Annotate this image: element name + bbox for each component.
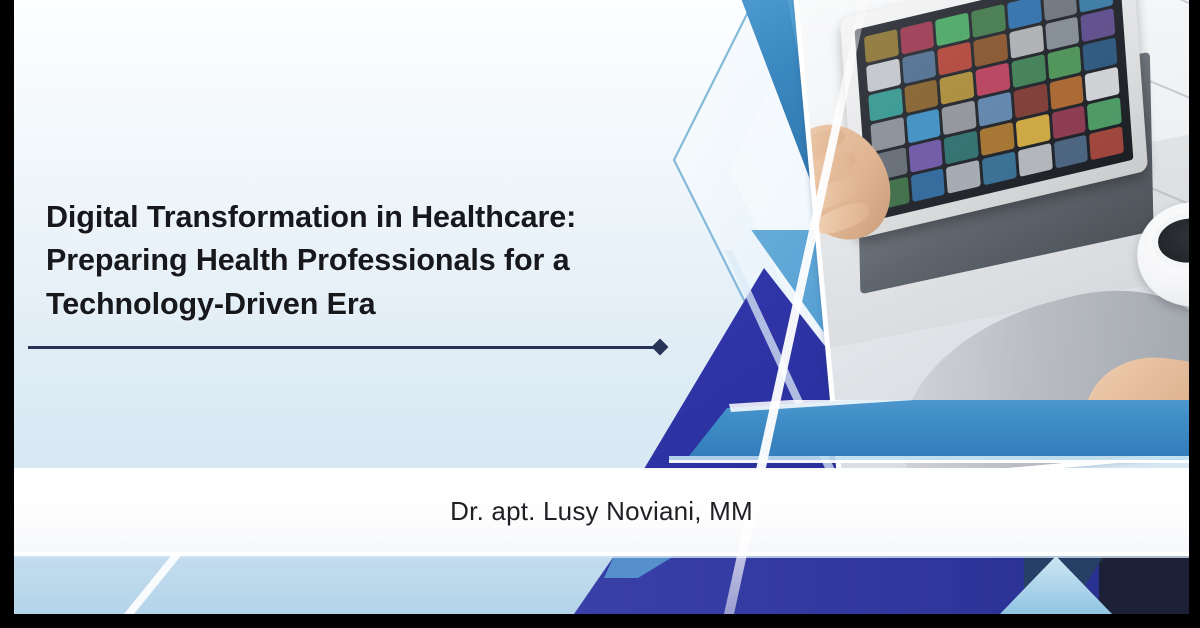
title-slide: Digital Transformation in Healthcare: Pr… — [0, 0, 1200, 628]
slide-canvas: Digital Transformation in Healthcare: Pr… — [14, 0, 1189, 614]
app-icon — [1087, 97, 1122, 131]
title-line-1: Digital Transformation in Healthcare: — [46, 196, 686, 239]
letterbox-left — [0, 0, 14, 628]
title-line-3: Technology-Driven Era — [46, 283, 686, 326]
app-icon — [1045, 17, 1080, 51]
page-title: Digital Transformation in Healthcare: Pr… — [46, 196, 686, 326]
app-icon — [1049, 76, 1084, 110]
app-icon — [1089, 126, 1124, 160]
app-icon — [1051, 105, 1086, 139]
app-icon — [1047, 46, 1082, 80]
title-line-2: Preparing Health Professionals for a — [46, 239, 686, 282]
letterbox-bottom — [0, 614, 1200, 628]
app-icon — [1081, 8, 1116, 42]
title-arrow-rule — [28, 346, 660, 349]
app-icon — [1085, 67, 1120, 101]
letterbox-right — [1189, 0, 1200, 628]
app-icon — [1053, 134, 1088, 168]
presenter-name: Dr. apt. Lusy Noviani, MM — [14, 470, 1189, 552]
app-icon — [1083, 38, 1118, 72]
